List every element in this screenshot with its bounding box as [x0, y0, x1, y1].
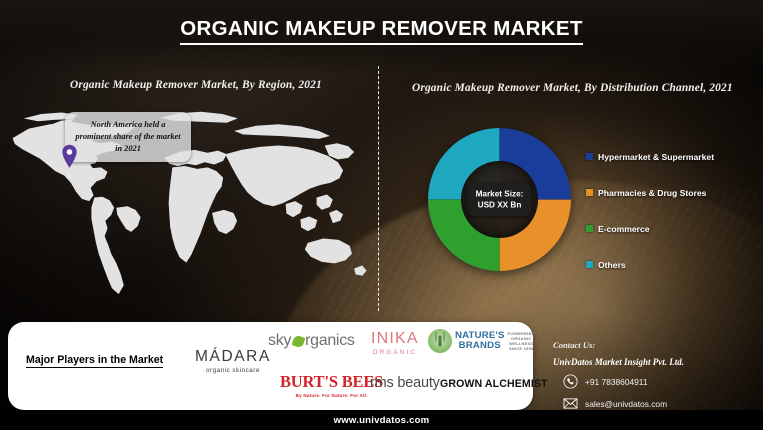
section-heading-region: Organic Makeup Remover Market, By Region… [70, 79, 322, 91]
donut-legend: Hypermarket & Supermarket Pharmacies & D… [586, 140, 714, 284]
logo-burts-tagline: By Nature. For Nature. For All. [280, 393, 383, 398]
logo-madara: MÁDARA organic skincare [195, 348, 271, 374]
legend-swatch-icon [586, 189, 593, 196]
natures-brands-tree-icon [428, 329, 452, 353]
legend-label: Pharmacies & Drug Stores [598, 188, 706, 198]
legend-label: Others [598, 260, 626, 270]
page-title-text: ORGANIC MAKEUP REMOVER MARKET [180, 17, 582, 45]
infographic-root: ORGANIC MAKEUP REMOVER MARKET Organic Ma… [0, 0, 763, 430]
distribution-channel-donut-chart: Market Size: USD XX Bn [428, 128, 571, 271]
logo-madara-tagline: organic skincare [195, 367, 271, 374]
contact-phone-row[interactable]: +91 7838604911 [563, 374, 684, 389]
map-callout-text: North America held a prominent share of … [72, 119, 184, 155]
email-icon [563, 396, 578, 411]
sky-leaf-icon [292, 334, 306, 348]
logo-burts-name: BURT'S BEES [280, 372, 383, 392]
logo-grown-name: GROWN ALCHEMIST [440, 378, 548, 390]
natures-side4: SINCE 1999 [508, 346, 535, 351]
logo-madara-name: MÁDARA [195, 348, 271, 366]
logo-rms-beauty: rms beauty [370, 375, 440, 391]
legend-swatch-icon [586, 261, 593, 268]
legend-item: Hypermarket & Supermarket [586, 140, 714, 173]
natures-brands-sidetext: PIONEERING ORGANIC WELLNESS SINCE 1999 [508, 331, 535, 352]
logo-rms-name: rms beauty [370, 375, 440, 391]
legend-swatch-icon [586, 225, 593, 232]
market-size-value: USD XX Bn [476, 200, 524, 212]
logo-inika-organic: INIKA ORGANIC [371, 330, 419, 356]
footer-url[interactable]: www.univdatos.com [334, 415, 430, 426]
map-pin-icon [60, 144, 79, 169]
major-players-title: Major Players in the Market [26, 354, 163, 368]
natures-brands-wordmark: NATURE'S BRANDS [455, 331, 505, 351]
logo-grown-alchemist: GROWN ALCHEMIST [440, 378, 548, 390]
logo-burts-bees: BURT'S BEES By Nature. For Nature. For A… [280, 372, 383, 398]
contact-company: UnivDatos Market Insight Pvt. Ltd. [553, 357, 684, 367]
logo-natures-brands: NATURE'S BRANDS PIONEERING ORGANIC WELLN… [428, 329, 535, 353]
logo-sky-part2: rganics [305, 332, 354, 350]
footer-bar: www.univdatos.com [0, 410, 763, 430]
market-size-label: Market Size: [476, 188, 524, 200]
logo-sky-part1: sky [268, 332, 291, 350]
legend-label: E-commerce [598, 224, 650, 234]
legend-item: Pharmacies & Drug Stores [586, 176, 714, 209]
legend-item: Others [586, 248, 714, 281]
contact-email-row[interactable]: sales@univdatos.com [563, 396, 684, 411]
contact-phone: +91 7838604911 [585, 377, 648, 387]
contact-email: sales@univdatos.com [585, 399, 667, 409]
vertical-dashed-divider [378, 66, 379, 311]
page-title: ORGANIC MAKEUP REMOVER MARKET [0, 17, 763, 41]
section-heading-channel: Organic Makeup Remover Market, By Distri… [412, 82, 733, 94]
donut-center-label: Market Size: USD XX Bn [468, 183, 532, 216]
logo-natures-line2: BRANDS [455, 341, 505, 351]
legend-label: Hypermarket & Supermarket [598, 152, 714, 162]
phone-icon [563, 374, 578, 389]
contact-heading: Contact Us: [553, 340, 684, 350]
logo-inika-tagline: ORGANIC [371, 349, 419, 356]
legend-item: E-commerce [586, 212, 714, 245]
logo-inika-name: INIKA [371, 330, 419, 348]
legend-swatch-icon [586, 153, 593, 160]
contact-block: Contact Us: UnivDatos Market Insight Pvt… [553, 340, 684, 411]
logo-sky-organics: sky rganics [268, 332, 355, 350]
map-callout-box: North America held a prominent share of … [65, 112, 191, 162]
